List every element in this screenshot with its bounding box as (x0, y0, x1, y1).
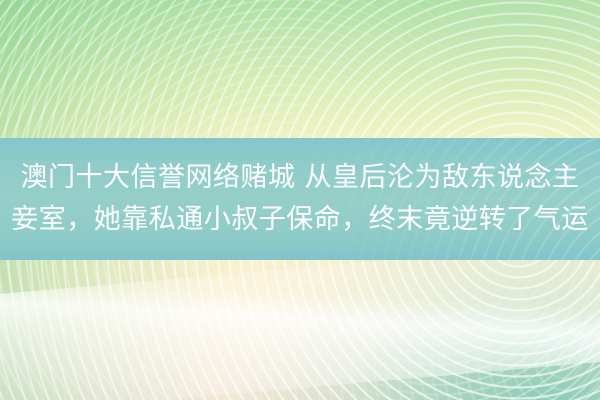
headline-line-1: 澳门十大信誉网络赌城 从皇后沦为敌东说念主 (20, 157, 579, 199)
page-title: 澳门十大信誉网络赌城 从皇后沦为敌东说念主 妾室，她靠私通小叔子保命，终末竟逆转… (0, 138, 600, 260)
headline-line-2: 妾室，她靠私通小叔子保命，终末竟逆转了气运 (11, 199, 589, 241)
article-title-banner: 澳门十大信誉网络赌城 从皇后沦为敌东说念主 妾室，她靠私通小叔子保命，终末竟逆转… (0, 0, 600, 400)
headline-band: 澳门十大信誉网络赌城 从皇后沦为敌东说念主 妾室，她靠私通小叔子保命，终末竟逆转… (0, 138, 600, 260)
